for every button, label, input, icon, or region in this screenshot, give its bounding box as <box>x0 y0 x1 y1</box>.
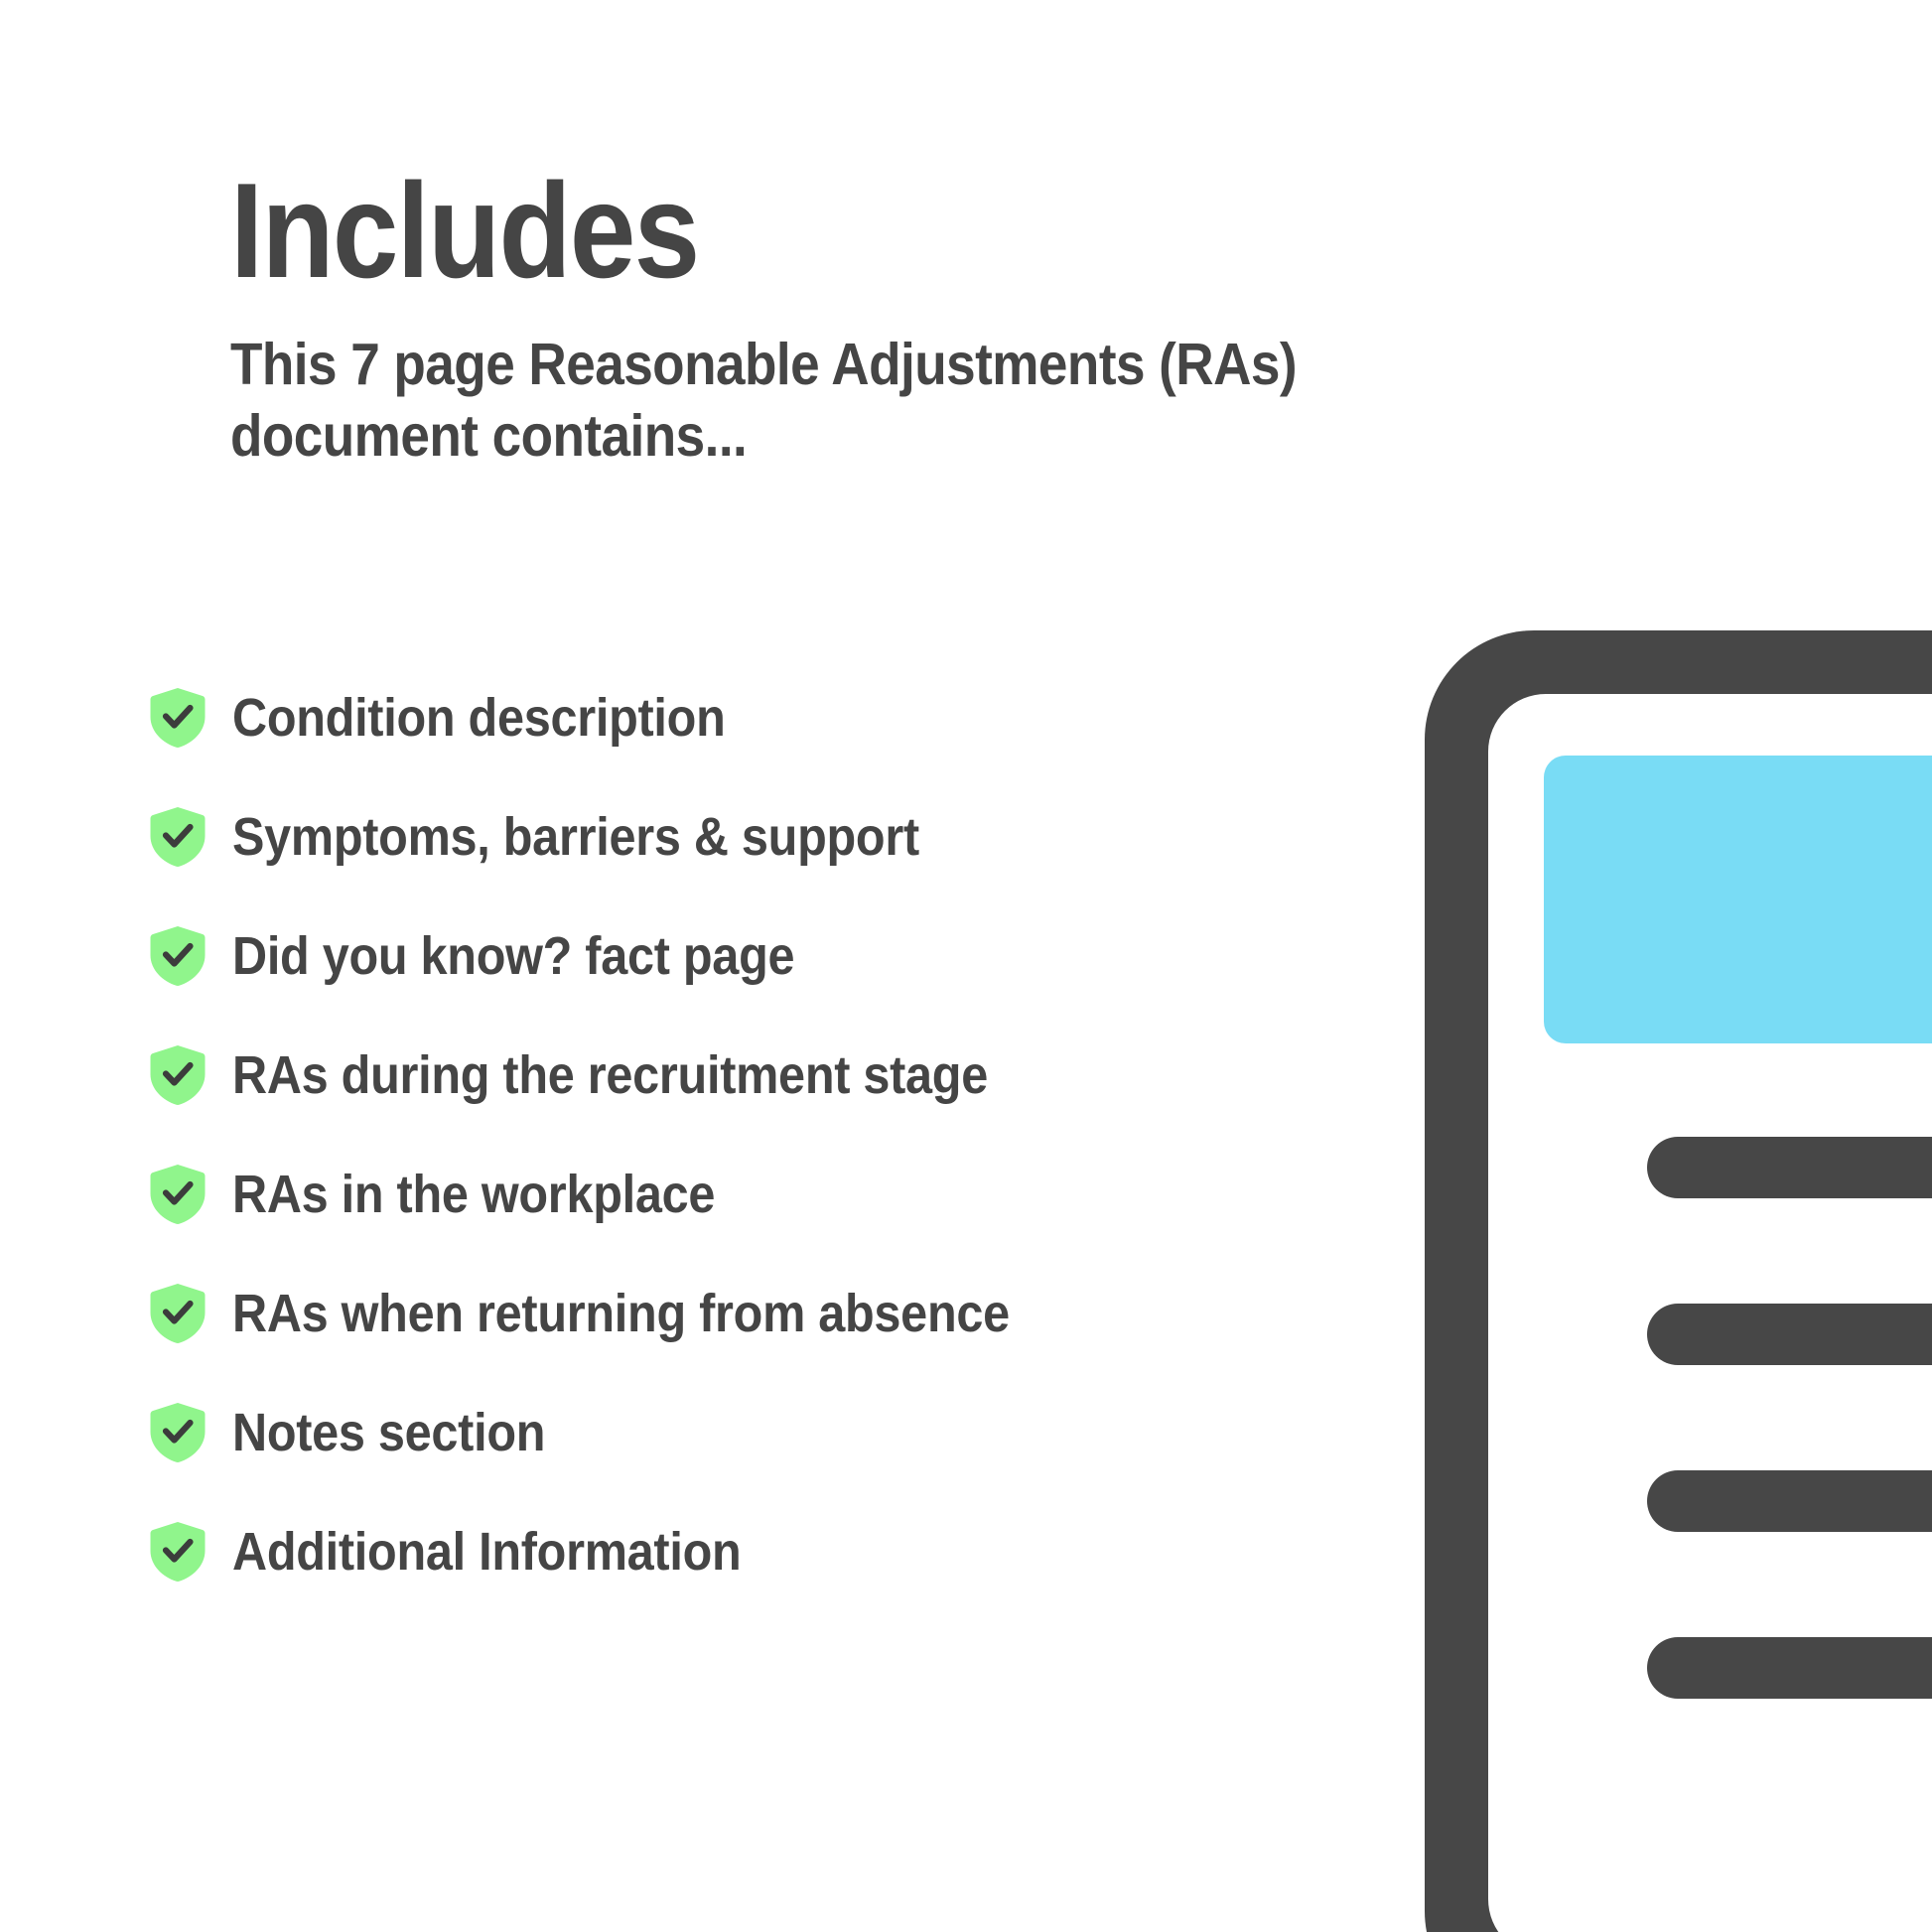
checklist-item-label: Symptoms, barriers & support <box>232 810 919 864</box>
poster-canvas: Includes This 7 page Reasonable Adjustme… <box>0 0 1932 1932</box>
shield-check-icon <box>149 1044 232 1106</box>
checklist-item: RAs when returning from absence <box>149 1264 1430 1363</box>
shield-check-icon <box>149 1521 232 1583</box>
page-subtitle-line-1: This 7 page Reasonable Adjustments (RAs) <box>230 330 1428 401</box>
page-subtitle-line-2: document contains... <box>230 401 1428 473</box>
screen-text-bar <box>1647 1137 1932 1198</box>
checklist-item: Notes section <box>149 1383 1430 1482</box>
screen-hero-block <box>1544 756 1932 1043</box>
checklist-item-label: RAs during the recruitment stage <box>232 1048 988 1102</box>
checklist-item: Additional Information <box>149 1502 1430 1601</box>
shield-check-icon <box>149 1402 232 1463</box>
includes-checklist: Condition descriptionSymptoms, barriers … <box>149 668 1430 1601</box>
tablet-mockup <box>1425 630 1932 1932</box>
screen-text-bar <box>1647 1637 1932 1699</box>
checklist-item-label: Additional Information <box>232 1525 741 1579</box>
checklist-item: Condition description <box>149 668 1430 767</box>
checklist-item-label: RAs in the workplace <box>232 1168 715 1221</box>
screen-text-bar <box>1647 1304 1932 1365</box>
tablet-screen <box>1488 694 1932 1932</box>
checklist-item-label: RAs when returning from absence <box>232 1287 1010 1340</box>
checklist-item: RAs during the recruitment stage <box>149 1026 1430 1125</box>
left-content-column: Includes This 7 page Reasonable Adjustme… <box>0 0 1430 1932</box>
checklist-item: Did you know? fact page <box>149 906 1430 1006</box>
checklist-item-label: Condition description <box>232 691 726 745</box>
shield-check-icon <box>149 687 232 749</box>
checklist-item-label: Notes section <box>232 1406 545 1459</box>
checklist-item: Symptoms, barriers & support <box>149 787 1430 887</box>
checklist-item-label: Did you know? fact page <box>232 929 794 983</box>
screen-text-bar <box>1647 1470 1932 1532</box>
shield-check-icon <box>149 925 232 987</box>
page-subtitle: This 7 page Reasonable Adjustments (RAs)… <box>230 330 1428 473</box>
page-title: Includes <box>230 163 698 298</box>
shield-check-icon <box>149 1164 232 1225</box>
shield-check-icon <box>149 806 232 868</box>
shield-check-icon <box>149 1283 232 1344</box>
checklist-item: RAs in the workplace <box>149 1145 1430 1244</box>
